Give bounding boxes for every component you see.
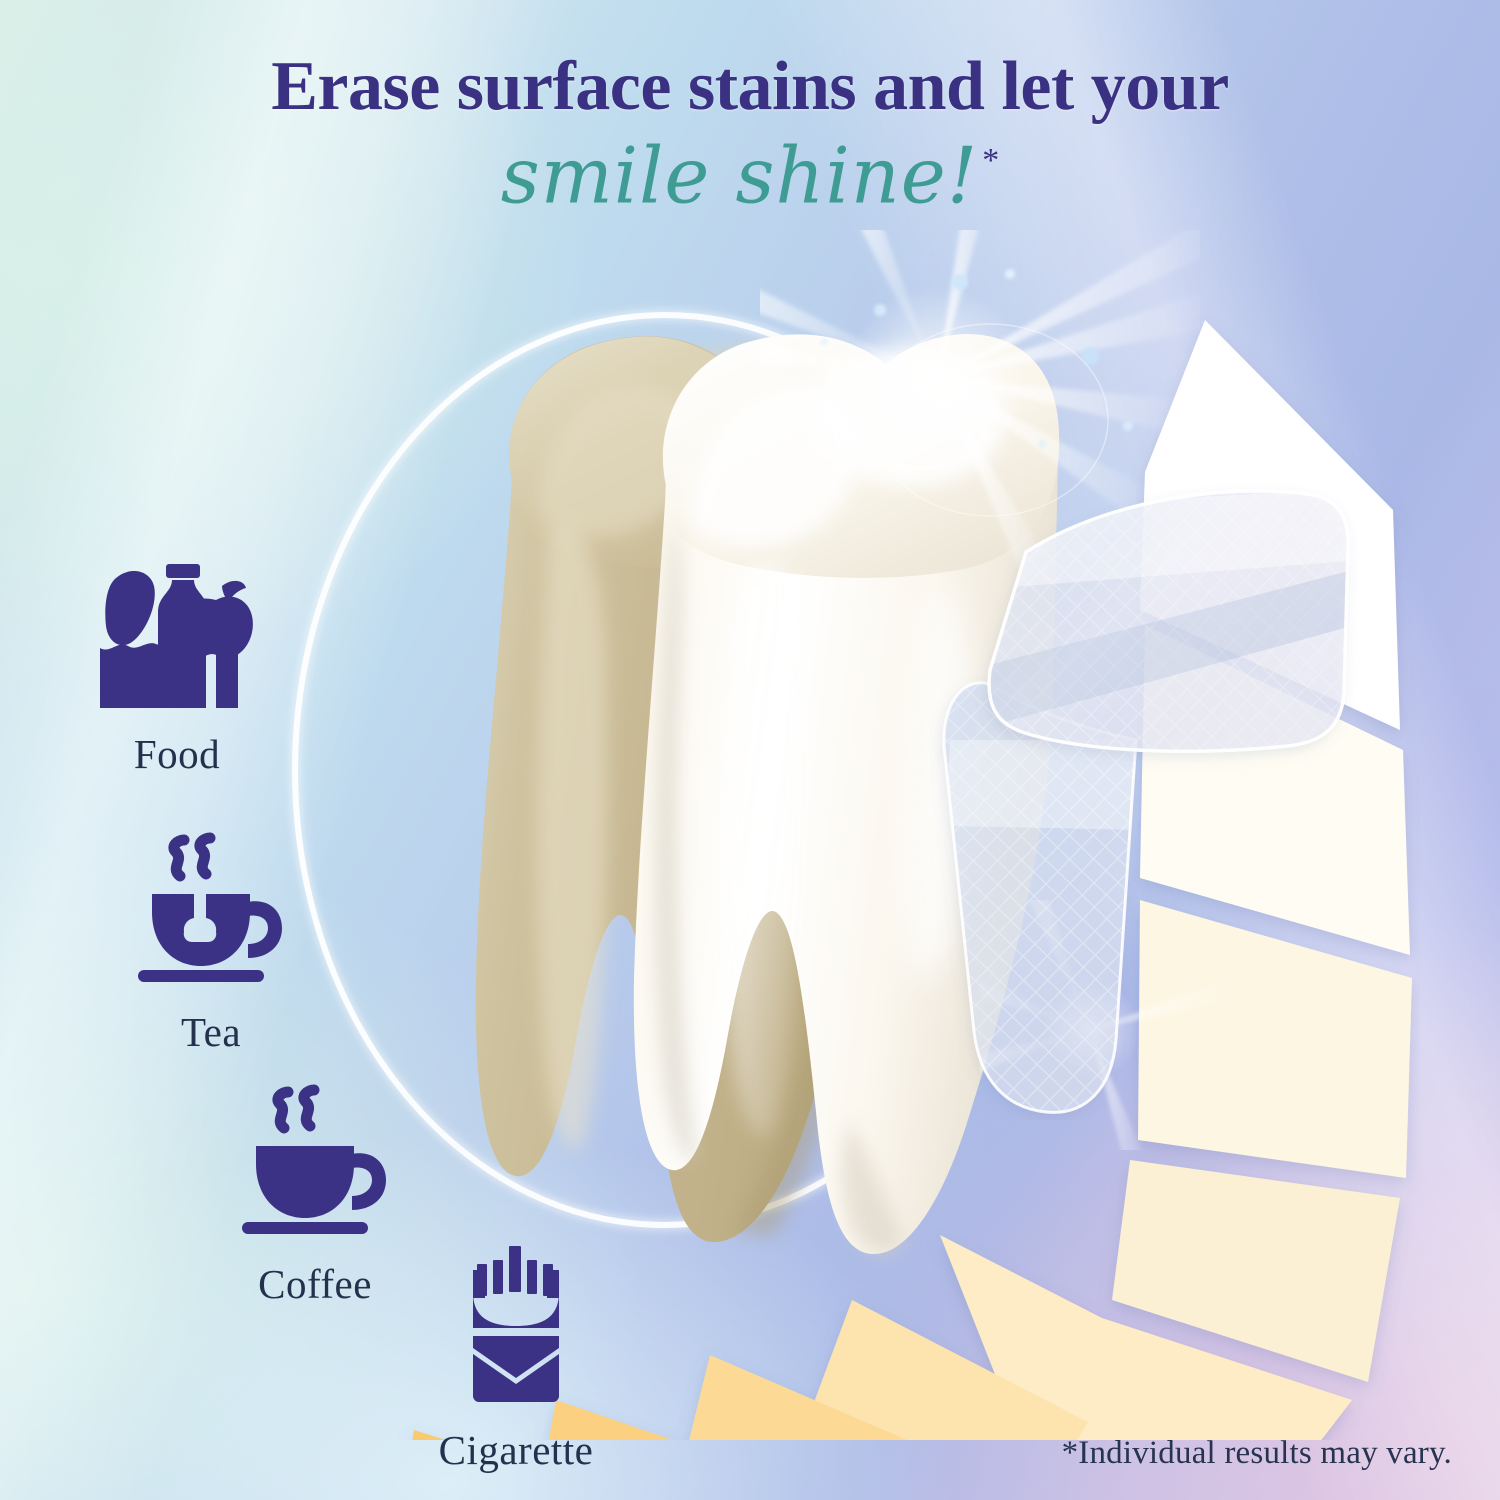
stain-source-label: Cigarette [396,1426,636,1474]
tea-cup-icon [136,832,286,994]
stain-source-cigarette: Cigarette [396,1244,636,1474]
headline-primary: Erase surface stains and let your [0,52,1500,122]
stain-source-label: Tea [96,1008,326,1056]
stain-source-label: Food [62,730,292,778]
cigarette-pack-icon [451,1244,581,1412]
headline-secondary-row: smile shine! * [0,138,1500,214]
headline-secondary: smile shine! [501,137,979,215]
stain-source-food: Food [62,556,292,778]
whitening-strip [930,440,1430,1120]
stain-source-tea: Tea [96,832,326,1056]
grocery-bag-icon [92,556,262,716]
disclaimer-footnote: *Individual results may vary. [1062,1435,1452,1472]
headline-block: Erase surface stains and let your smile … [0,52,1500,214]
product-infographic: Food Tea [0,0,1500,1500]
headline-asterisk: * [982,144,999,178]
coffee-cup-icon [240,1084,390,1246]
